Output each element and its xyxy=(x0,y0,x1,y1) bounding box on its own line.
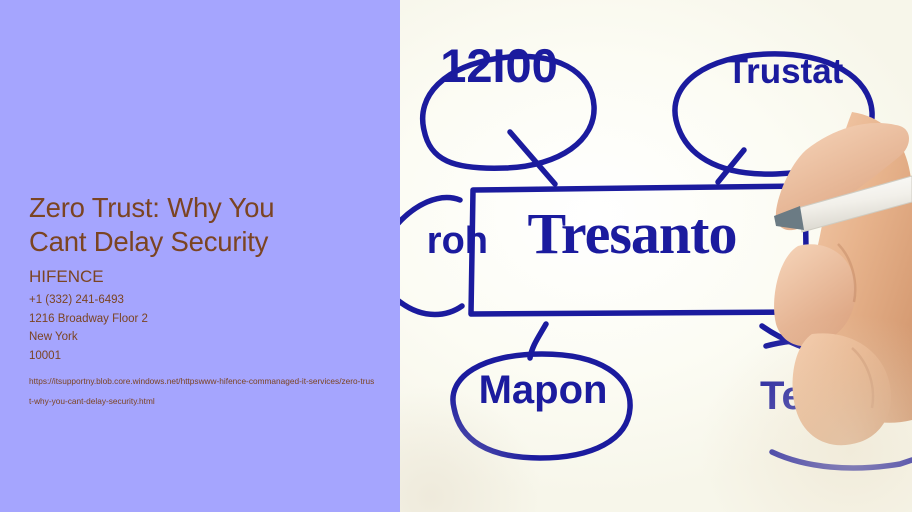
article-info-block: Zero Trust: Why You Cant Delay Security … xyxy=(29,191,379,411)
node-ellipse-tedeli-lower xyxy=(772,452,912,468)
node-ellipse-mapon xyxy=(453,354,630,458)
node-box-tresanto xyxy=(471,186,807,314)
phone-number: +1 (332) 241-6493 xyxy=(29,291,379,310)
mind-map-diagram xyxy=(400,0,912,512)
illustration-panel: 12I00 Trustat roh Tresanto Mapon Tedelı xyxy=(400,0,912,512)
source-url-wrapper: https://itsupportny.blob.core.windows.ne… xyxy=(29,371,379,411)
screenshot-canvas: Zero Trust: Why You Cant Delay Security … xyxy=(0,0,912,512)
brand-name: HIFENCE xyxy=(29,266,379,288)
connector-center-to-tedeli-tail xyxy=(848,352,852,368)
zip-code: 10001 xyxy=(29,347,379,366)
node-ellipse-trustat xyxy=(675,54,872,174)
source-url[interactable]: https://itsupportny.blob.core.windows.ne… xyxy=(29,371,375,411)
page-title: Zero Trust: Why You Cant Delay Security xyxy=(29,191,339,259)
city-name: New York xyxy=(29,328,379,347)
left-info-panel: Zero Trust: Why You Cant Delay Security … xyxy=(0,0,400,512)
node-ellipse-roh xyxy=(400,198,462,315)
node-ellipse-12i00 xyxy=(423,56,594,168)
address-line: 1216 Broadway Floor 2 xyxy=(29,310,379,329)
